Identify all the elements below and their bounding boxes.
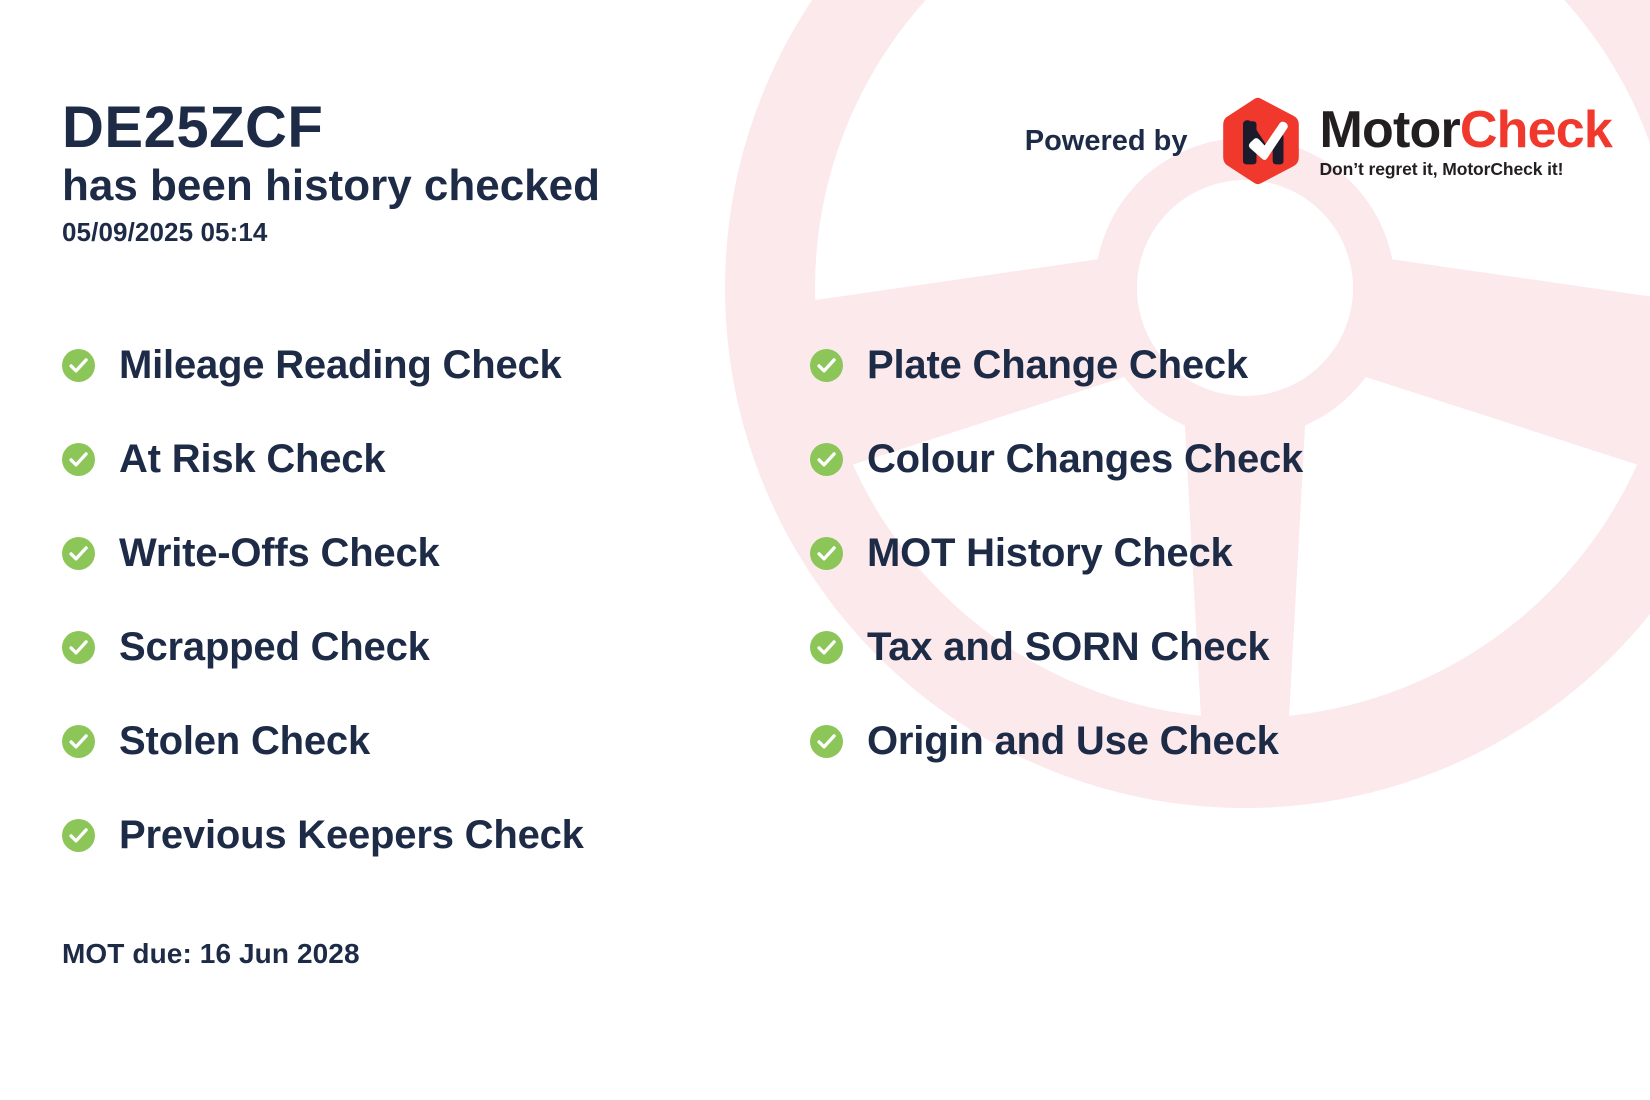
check-item-mileage-reading: Mileage Reading Check	[62, 318, 810, 412]
history-checks-grid: Mileage Reading Check At Risk Check Writ…	[62, 318, 1562, 882]
checks-left-column: Mileage Reading Check At Risk Check Writ…	[62, 318, 810, 882]
check-circle-icon	[810, 537, 843, 570]
check-circle-icon	[62, 537, 95, 570]
check-circle-icon	[810, 443, 843, 476]
wordmark-motor: Motor	[1320, 101, 1460, 159]
check-label: Mileage Reading Check	[119, 343, 562, 388]
registration-plate: DE25ZCF	[62, 98, 600, 158]
check-circle-icon	[810, 349, 843, 382]
check-circle-icon	[62, 631, 95, 664]
powered-by-brand-block: Powered by MotorCheck Don’t regret it, M…	[1025, 96, 1612, 186]
vehicle-check-card: DE25ZCF has been history checked 05/09/2…	[0, 0, 1650, 1100]
check-label: Write-Offs Check	[119, 531, 440, 576]
powered-by-label: Powered by	[1025, 125, 1188, 158]
check-item-scrapped: Scrapped Check	[62, 600, 810, 694]
motorcheck-hexagon-logo-icon	[1216, 96, 1306, 186]
header-text-block: DE25ZCF has been history checked 05/09/2…	[62, 98, 600, 248]
check-label: Plate Change Check	[867, 343, 1248, 388]
checks-right-column: Plate Change Check Colour Changes Check …	[810, 318, 1558, 882]
motorcheck-wordmark: MotorCheck Don’t regret it, MotorCheck i…	[1320, 104, 1612, 179]
check-item-stolen: Stolen Check	[62, 694, 810, 788]
check-circle-icon	[62, 349, 95, 382]
check-circle-icon	[62, 443, 95, 476]
check-item-colour-changes: Colour Changes Check	[810, 412, 1558, 506]
check-circle-icon	[62, 725, 95, 758]
mot-due-label: MOT due: 16 Jun 2028	[62, 938, 360, 970]
check-label: Origin and Use Check	[867, 719, 1279, 764]
check-label: At Risk Check	[119, 437, 385, 482]
wordmark-text: MotorCheck	[1320, 104, 1612, 156]
check-label: Scrapped Check	[119, 625, 430, 670]
page-title: has been history checked	[62, 160, 600, 211]
check-circle-icon	[810, 631, 843, 664]
check-item-write-offs: Write-Offs Check	[62, 506, 810, 600]
check-label: Previous Keepers Check	[119, 813, 584, 858]
check-label: Colour Changes Check	[867, 437, 1303, 482]
wordmark-check: Check	[1460, 101, 1612, 159]
check-item-mot-history: MOT History Check	[810, 506, 1558, 600]
check-item-previous-keepers: Previous Keepers Check	[62, 788, 810, 882]
check-item-plate-change: Plate Change Check	[810, 318, 1558, 412]
check-label: MOT History Check	[867, 531, 1233, 576]
check-label: Stolen Check	[119, 719, 370, 764]
motorcheck-logo[interactable]: MotorCheck Don’t regret it, MotorCheck i…	[1216, 96, 1612, 186]
brand-tagline: Don’t regret it, MotorCheck it!	[1320, 161, 1612, 179]
check-circle-icon	[810, 725, 843, 758]
check-circle-icon	[62, 819, 95, 852]
check-label: Tax and SORN Check	[867, 625, 1269, 670]
check-timestamp: 05/09/2025 05:14	[62, 217, 600, 248]
check-item-tax-and-sorn: Tax and SORN Check	[810, 600, 1558, 694]
check-item-origin-and-use: Origin and Use Check	[810, 694, 1558, 788]
check-item-at-risk: At Risk Check	[62, 412, 810, 506]
